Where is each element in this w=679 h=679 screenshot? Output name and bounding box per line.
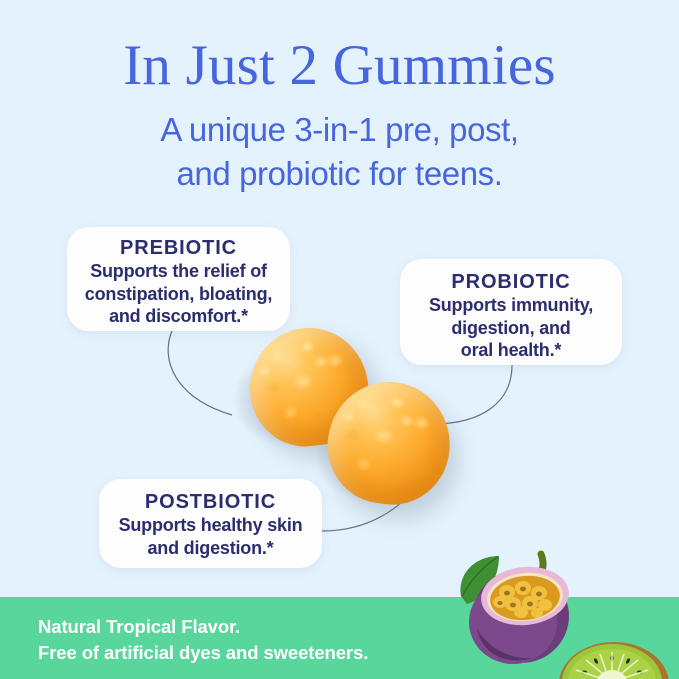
card-body-line: Supports healthy skin: [99, 514, 322, 537]
card-title-postbiotic: POSTBIOTIC: [99, 490, 322, 514]
card-body-line: and discomfort.*: [67, 305, 290, 328]
card-title-probiotic: PROBIOTIC: [400, 270, 622, 294]
page-subtitle: A unique 3-in-1 pre, post, and probiotic…: [0, 108, 679, 195]
kiwi-icon: [556, 628, 672, 679]
page-title: In Just 2 Gummies: [0, 36, 679, 96]
product-infographic: In Just 2 Gummies A unique 3-in-1 pre, p…: [0, 0, 679, 679]
card-body-postbiotic: Supports healthy skin and digestion.*: [99, 514, 322, 559]
card-body-line: digestion, and: [400, 317, 622, 340]
subtitle-line-1: A unique 3-in-1 pre, post,: [0, 108, 679, 152]
card-title-prebiotic: PREBIOTIC: [67, 236, 290, 260]
callout-card-postbiotic: POSTBIOTIC Supports healthy skin and dig…: [99, 479, 322, 568]
card-body-line: oral health.*: [400, 339, 622, 362]
card-body-line: Supports the relief of: [67, 260, 290, 283]
card-body-prebiotic: Supports the relief of constipation, blo…: [67, 260, 290, 328]
flavor-banner-text: Natural Tropical Flavor. Free of artific…: [38, 614, 368, 667]
card-body-probiotic: Supports immunity, digestion, and oral h…: [400, 294, 622, 362]
connector-prebiotic: [168, 331, 232, 415]
card-body-line: and digestion.*: [99, 537, 322, 560]
banner-line-2: Free of artificial dyes and sweeteners.: [38, 640, 368, 666]
callout-card-probiotic: PROBIOTIC Supports immunity, digestion, …: [400, 259, 622, 365]
gummy-texture: [320, 374, 458, 512]
card-body-line: constipation, bloating,: [67, 283, 290, 306]
callout-card-prebiotic: PREBIOTIC Supports the relief of constip…: [67, 227, 290, 331]
card-body-line: Supports immunity,: [400, 294, 622, 317]
gummy-right: [320, 374, 458, 512]
subtitle-line-2: and probiotic for teens.: [0, 152, 679, 196]
banner-line-1: Natural Tropical Flavor.: [38, 614, 368, 640]
